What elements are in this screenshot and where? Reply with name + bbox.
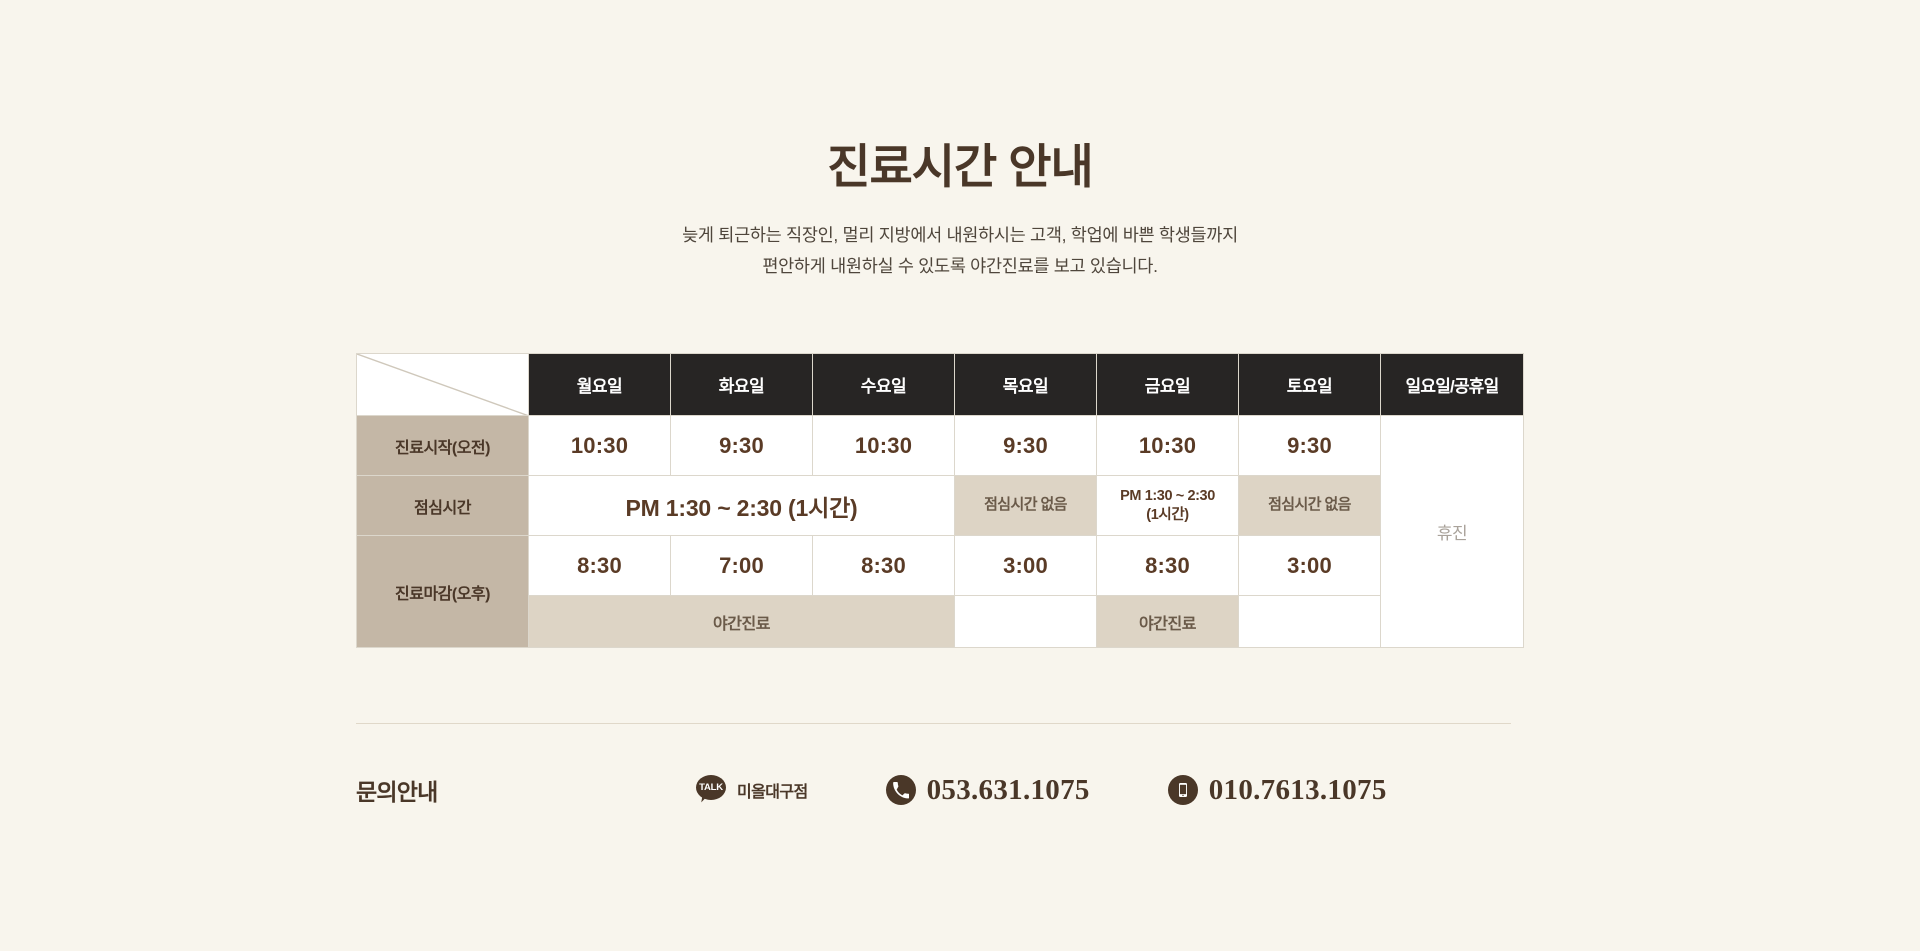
contact-kakao[interactable]: TALK 미올대구점 xyxy=(696,775,808,805)
page-title: 진료시간 안내 xyxy=(0,140,1920,194)
contact-mobile[interactable]: 010.7613.1075 xyxy=(1168,774,1387,807)
open-tuesday: 9:30 xyxy=(671,416,813,476)
open-thursday: 9:30 xyxy=(955,416,1097,476)
sunday-holiday-closed: 휴진 xyxy=(1381,416,1524,648)
contact-section-title: 문의안내 xyxy=(356,773,696,807)
schedule-page: 진료시간 안내 늦게 퇴근하는 직장인, 멀리 지방에서 내원하시는 고객, 학… xyxy=(0,0,1920,951)
table-corner-cell xyxy=(357,354,529,416)
night-clinic-mon-wed: 야간진료 xyxy=(529,596,955,648)
table-header-row: 월요일 화요일 수요일 목요일 금요일 토요일 일요일/공휴일 xyxy=(357,354,1524,416)
lunch-friday: PM 1:30 ~ 2:30 (1시간) xyxy=(1097,476,1239,536)
row-header-opening: 진료시작(오전) xyxy=(357,416,529,476)
open-saturday: 9:30 xyxy=(1239,416,1381,476)
lunch-friday-line-2: (1시간) xyxy=(1146,507,1188,523)
close-saturday: 3:00 xyxy=(1239,536,1381,596)
close-wednesday: 8:30 xyxy=(813,536,955,596)
row-header-lunch: 점심시간 xyxy=(357,476,529,536)
mobile-number: 010.7613.1075 xyxy=(1209,774,1387,807)
kakaotalk-icon: TALK xyxy=(696,775,726,805)
night-clinic-friday: 야간진료 xyxy=(1097,596,1239,648)
telephone-number: 053.631.1075 xyxy=(927,774,1090,807)
column-header-sunday-holiday: 일요일/공휴일 xyxy=(1381,354,1524,416)
kakao-channel-name: 미올대구점 xyxy=(737,778,808,802)
night-clinic-thursday xyxy=(955,596,1097,648)
contact-footer: 문의안내 TALK 미올대구점 053.631.1075 xyxy=(356,760,1511,820)
night-clinic-saturday xyxy=(1239,596,1381,648)
row-header-closing: 진료마감(오후) xyxy=(357,536,529,648)
contact-telephone[interactable]: 053.631.1075 xyxy=(886,774,1090,807)
column-header-wednesday: 수요일 xyxy=(813,354,955,416)
table-row-lunch: 점심시간 PM 1:30 ~ 2:30 (1시간) 점심시간 없음 PM 1:3… xyxy=(357,476,1524,536)
lunch-thursday: 점심시간 없음 xyxy=(955,476,1097,536)
phone-handset-icon xyxy=(886,775,916,805)
lunch-friday-line-1: PM 1:30 ~ 2:30 xyxy=(1120,488,1215,504)
table-row-opening: 진료시작(오전) 10:30 9:30 10:30 9:30 10:30 9:3… xyxy=(357,416,1524,476)
open-friday: 10:30 xyxy=(1097,416,1239,476)
close-tuesday: 7:00 xyxy=(671,536,813,596)
diagonal-line-icon xyxy=(357,354,528,416)
close-friday: 8:30 xyxy=(1097,536,1239,596)
close-monday: 8:30 xyxy=(529,536,671,596)
subtitle-line-1: 늦게 퇴근하는 직장인, 멀리 지방에서 내원하시는 고객, 학업에 바쁜 학생… xyxy=(0,220,1920,251)
column-header-friday: 금요일 xyxy=(1097,354,1239,416)
mobile-phone-icon xyxy=(1168,775,1198,805)
column-header-monday: 월요일 xyxy=(529,354,671,416)
footer-divider xyxy=(356,723,1511,724)
table-row-night-clinic: 야간진료 야간진료 xyxy=(357,596,1524,648)
subtitle-line-2: 편안하게 내원하실 수 있도록 야간진료를 보고 있습니다. xyxy=(0,251,1920,282)
schedule-table-wrapper: 월요일 화요일 수요일 목요일 금요일 토요일 일요일/공휴일 진료시작(오전)… xyxy=(356,353,1511,648)
page-header: 진료시간 안내 늦게 퇴근하는 직장인, 멀리 지방에서 내원하시는 고객, 학… xyxy=(0,140,1920,281)
lunch-mon-wed: PM 1:30 ~ 2:30 (1시간) xyxy=(529,476,955,536)
open-wednesday: 10:30 xyxy=(813,416,955,476)
schedule-table: 월요일 화요일 수요일 목요일 금요일 토요일 일요일/공휴일 진료시작(오전)… xyxy=(356,353,1524,648)
lunch-saturday: 점심시간 없음 xyxy=(1239,476,1381,536)
column-header-saturday: 토요일 xyxy=(1239,354,1381,416)
table-row-closing: 진료마감(오후) 8:30 7:00 8:30 3:00 8:30 3:00 xyxy=(357,536,1524,596)
column-header-thursday: 목요일 xyxy=(955,354,1097,416)
contact-items: TALK 미올대구점 053.631.1075 xyxy=(696,774,1387,807)
column-header-tuesday: 화요일 xyxy=(671,354,813,416)
open-monday: 10:30 xyxy=(529,416,671,476)
kakaotalk-icon-label: TALK xyxy=(696,775,726,800)
page-subtitle: 늦게 퇴근하는 직장인, 멀리 지방에서 내원하시는 고객, 학업에 바쁜 학생… xyxy=(0,220,1920,281)
close-thursday: 3:00 xyxy=(955,536,1097,596)
